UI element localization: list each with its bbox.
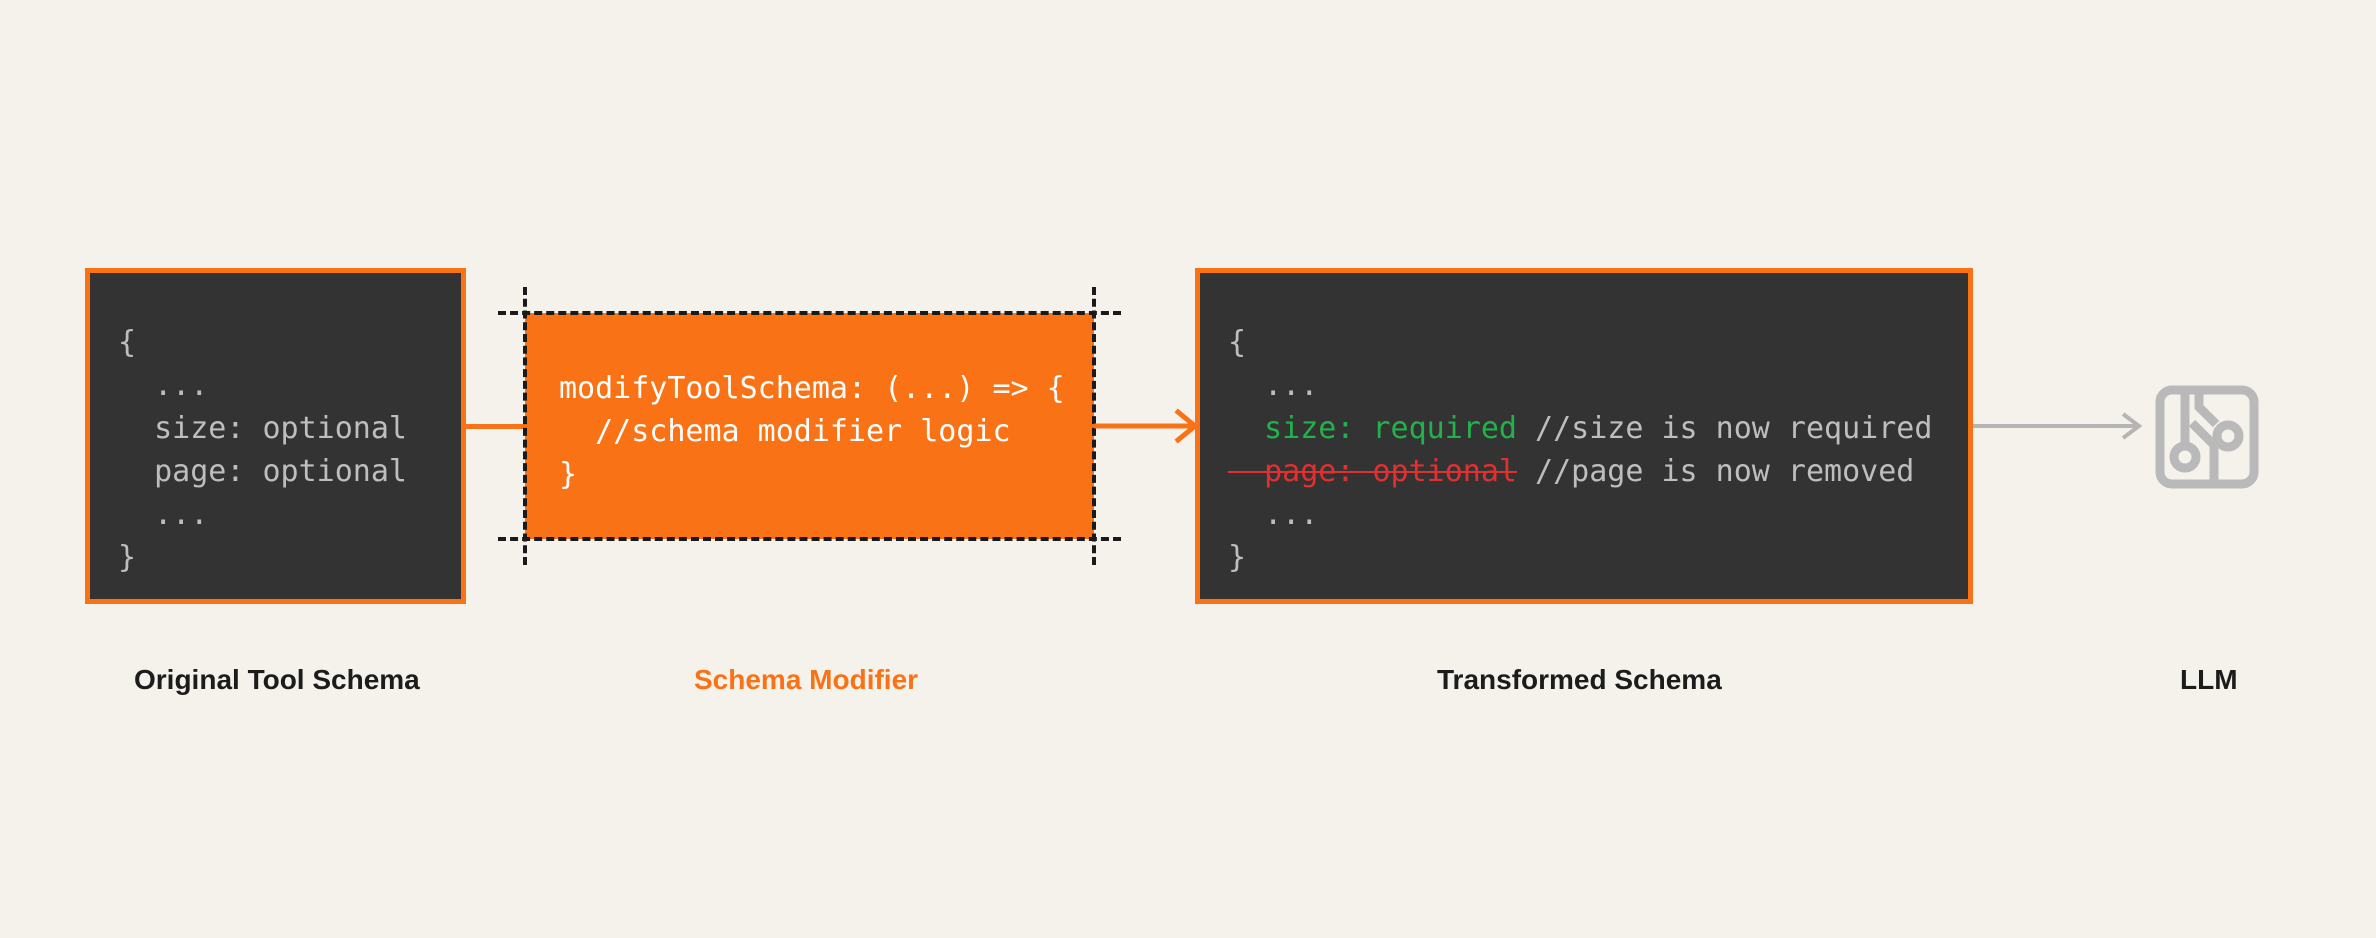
caption-transformed-schema: Transformed Schema [1437,664,1722,696]
schema-modifier-code: modifyToolSchema: (...) => { //schema mo… [559,367,1065,496]
code-comment-size: //size is now required [1517,411,1932,446]
arrow-transformed-to-llm [1973,412,2143,440]
code-line-size-added: size: required [1228,411,1517,446]
schema-modifier-box: modifyToolSchema: (...) => { //schema mo… [525,313,1094,539]
caption-llm: LLM [2180,664,2238,696]
code-line-close: } [1228,540,1246,575]
chip-circuit-icon [2152,382,2262,492]
caption-schema-modifier: Schema Modifier [694,664,918,696]
caption-original-tool-schema: Original Tool Schema [134,664,420,696]
transformed-schema-code: { ... size: required //size is now requi… [1228,321,1932,579]
code-line-ellipsis-top: ... [1228,368,1318,403]
dashed-guide-top [498,311,1121,315]
schema-modifier-group: modifyToolSchema: (...) => { //schema mo… [525,313,1094,539]
diagram-canvas: { ... size: optional page: optional ... … [0,0,2376,938]
dashed-guide-bottom [498,537,1121,541]
original-schema-code: { ... size: optional page: optional ... … [118,321,407,579]
arrow-modifier-to-transformed [1094,408,1199,444]
transformed-schema-box: { ... size: required //size is now requi… [1195,268,1973,604]
code-line-open: { [1228,325,1246,360]
dashed-guide-left [523,287,527,565]
llm-chip-circuit-icon [2152,382,2262,492]
code-line-ellipsis-bottom: ... [1228,497,1318,532]
code-line-page-removed: page: optional [1228,454,1517,489]
gray-arrow-right-icon [1973,412,2143,440]
connector-original-to-modifier [466,424,528,429]
code-comment-page: //page is now removed [1517,454,1914,489]
original-tool-schema-box: { ... size: optional page: optional ... … [85,268,466,604]
orange-arrow-right-icon [1094,408,1199,444]
